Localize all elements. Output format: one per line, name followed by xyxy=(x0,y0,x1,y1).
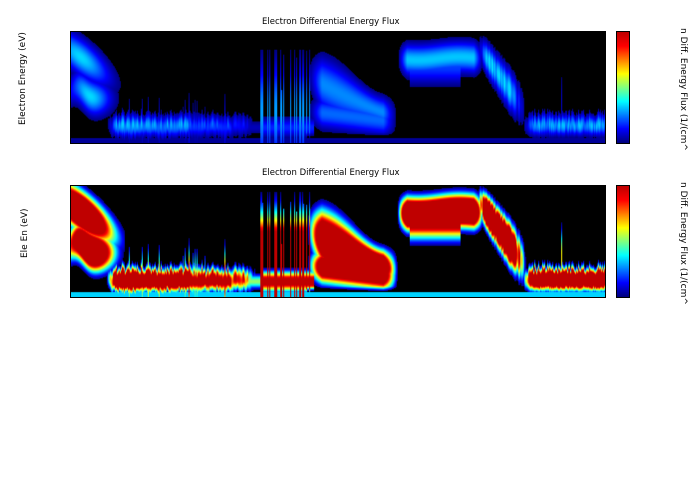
top-colorbar-label: n Diff. Energy Flux (1/(cm^ xyxy=(678,28,688,151)
top-colorbar xyxy=(616,31,630,144)
top-panel-title: Electron Differential Energy Flux xyxy=(262,17,400,27)
middle-spectrogram xyxy=(70,185,606,298)
top-panel-ylabel: Electron Energy (eV) xyxy=(18,32,28,125)
middle-panel-title: Electron Differential Energy Flux xyxy=(262,168,400,178)
middle-colorbar xyxy=(616,185,630,298)
middle-panel-ylabel: Ele En (eV) xyxy=(20,208,30,258)
middle-colorbar-label: n Diff. Energy Flux (1/(cm^ xyxy=(678,182,688,305)
top-spectrogram xyxy=(70,31,606,144)
